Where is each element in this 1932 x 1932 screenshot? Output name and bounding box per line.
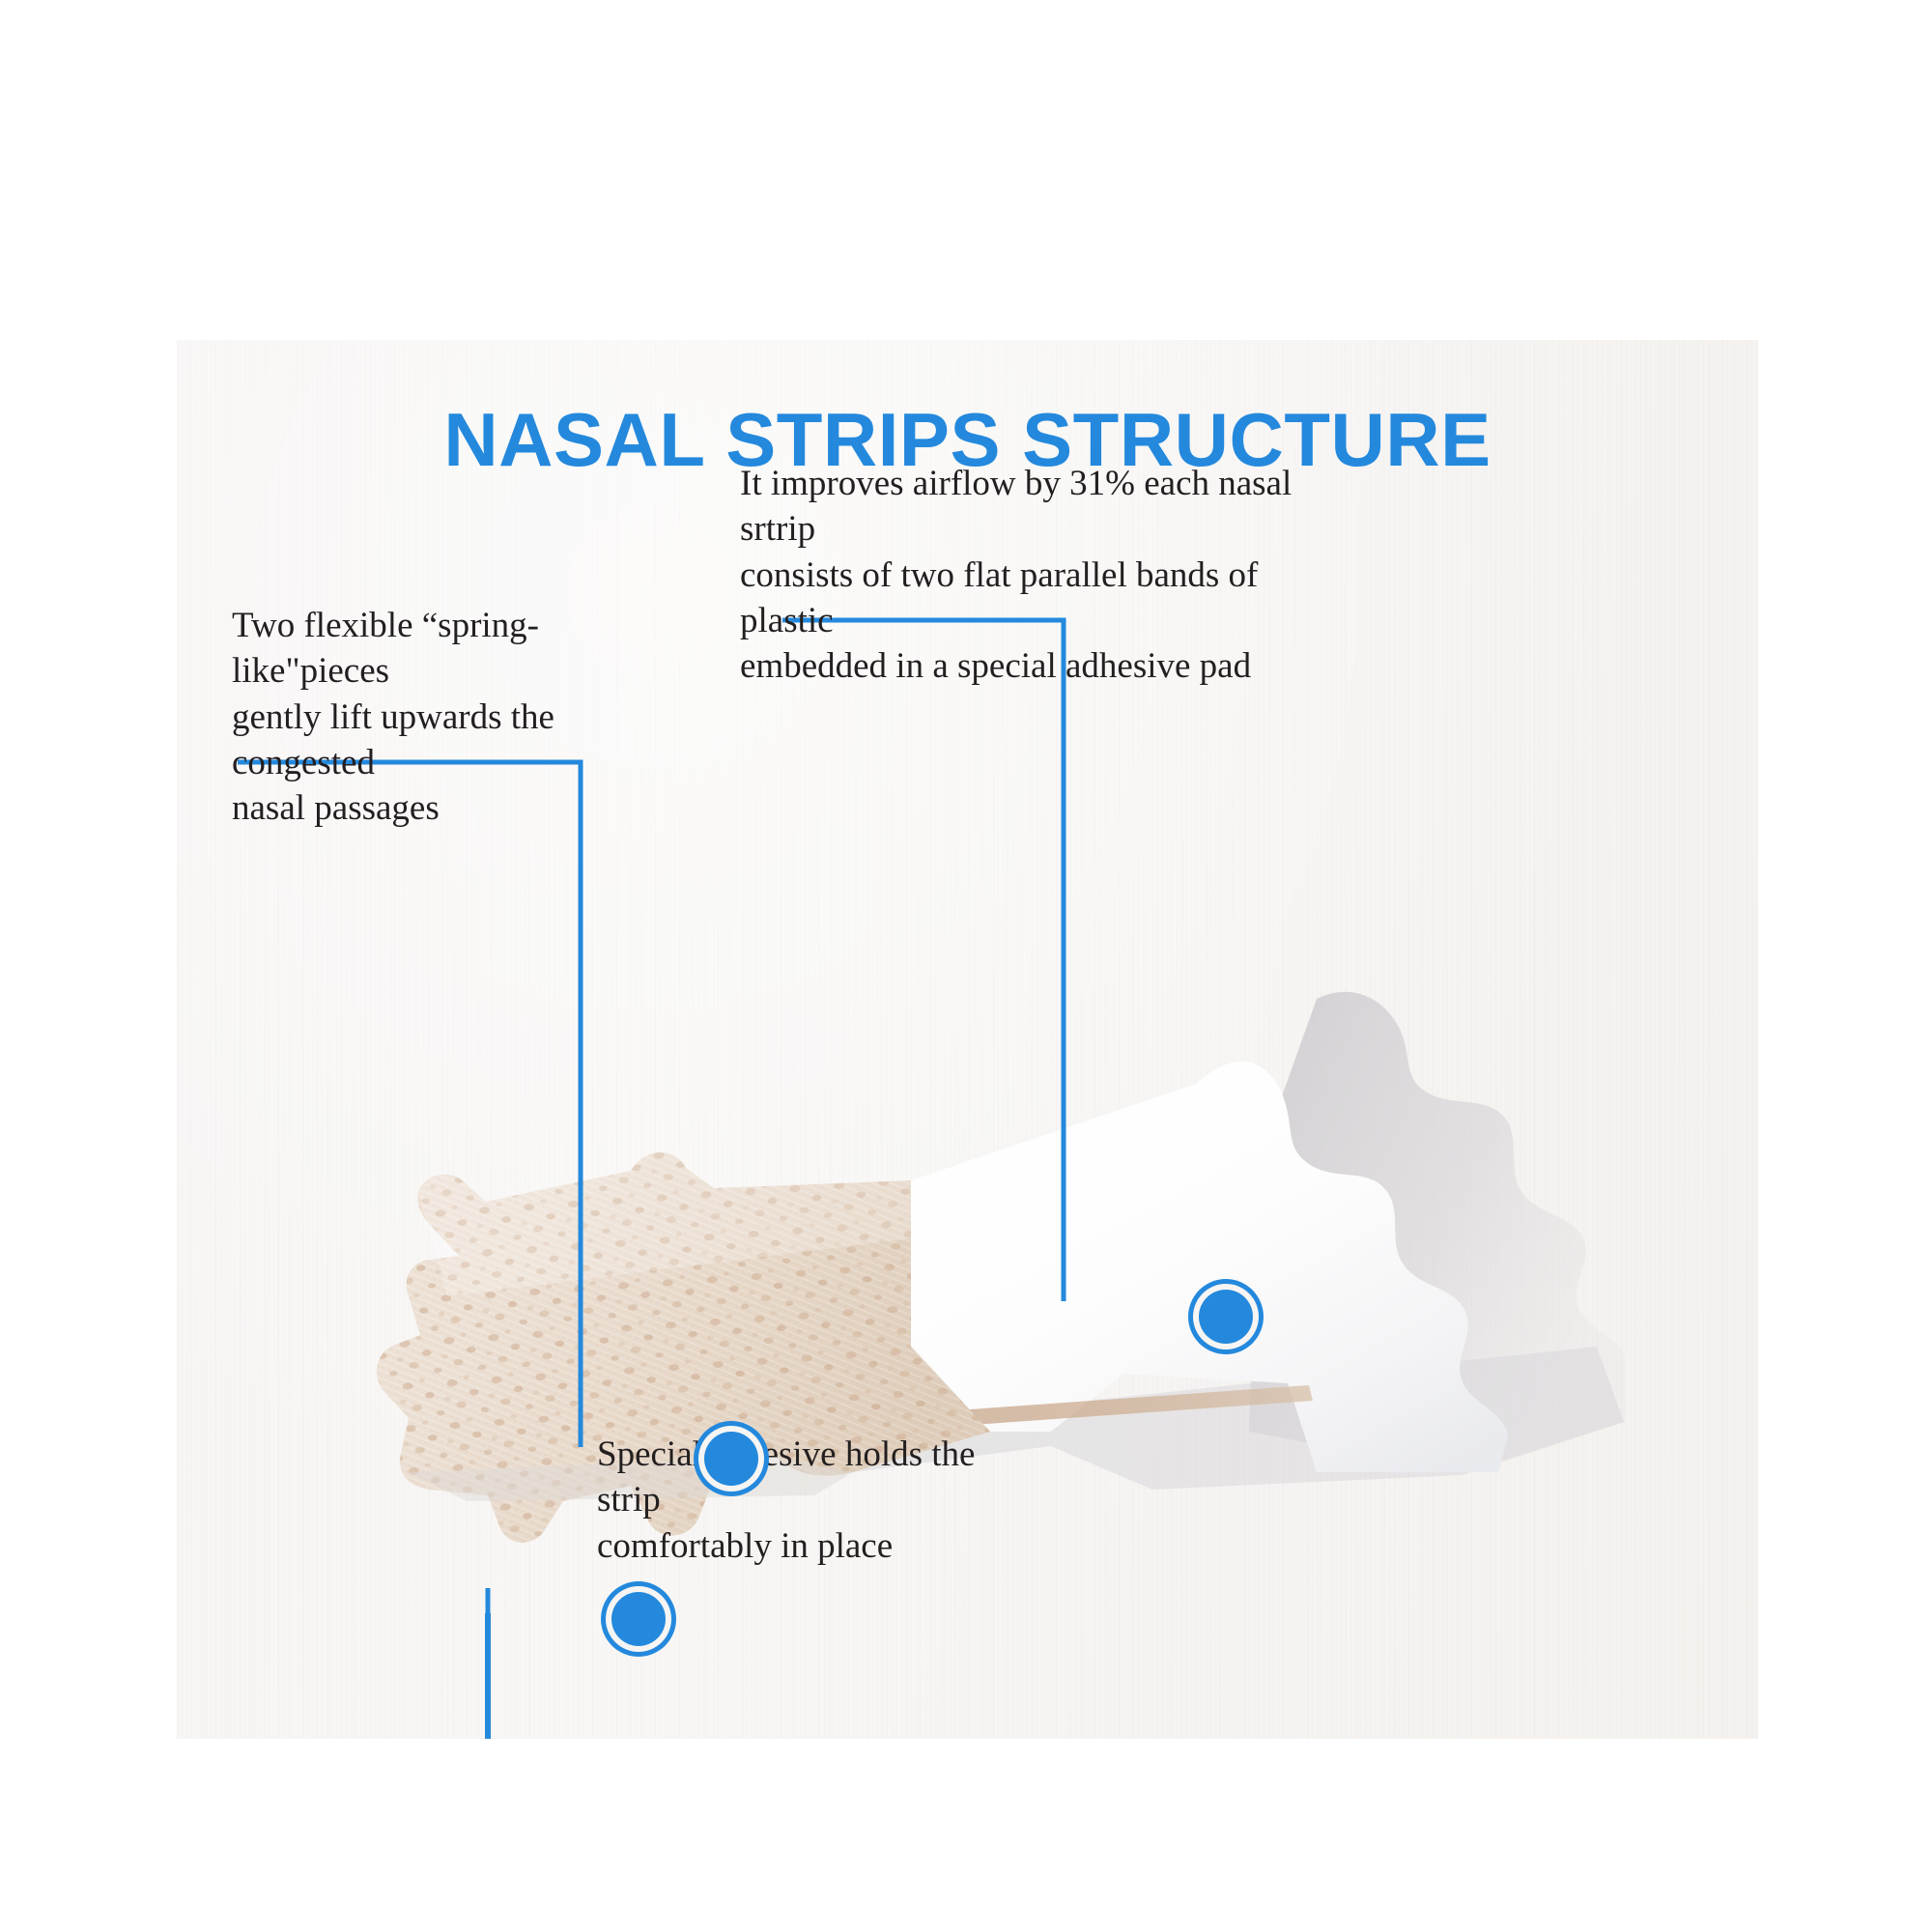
product-photo-card: NASAL STRIPS STRUCTURE It improves airfl… [177,340,1758,1739]
nasal-strip-illustration [177,755,1758,1721]
marker-plastic-bands-icon[interactable] [1199,1290,1253,1344]
annotation-airflow-callout: It improves airflow by 31% each nasal sr… [740,461,1339,690]
annotation-spring-callout: Two flexible “spring-like"pieces gently … [232,603,686,832]
infographic-canvas: NASAL STRIPS STRUCTURE It improves airfl… [0,0,1932,1932]
marker-special-adhesive-icon[interactable] [611,1592,666,1646]
marker-spring-pieces-icon[interactable] [704,1432,758,1486]
annotation-adhesive-callout: Special adhesive holds the strip comfort… [597,1432,1041,1569]
nasal-strip-photograph [177,755,1758,1721]
